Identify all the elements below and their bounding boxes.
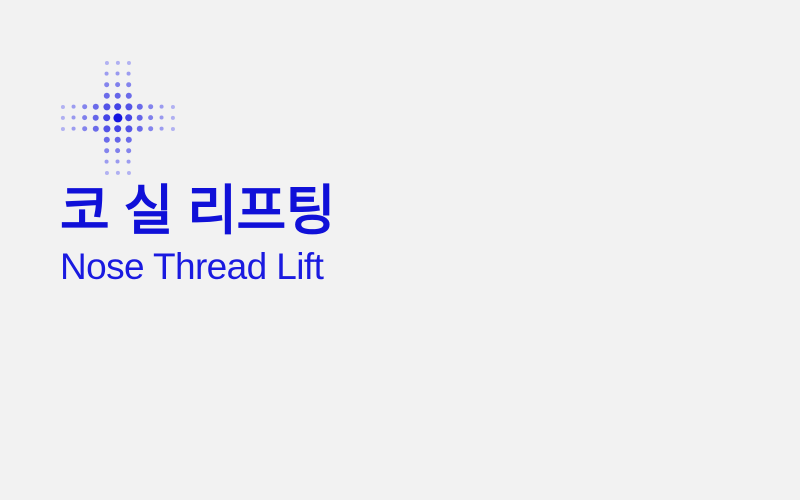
- logo-dot: [126, 148, 132, 154]
- logo-dot: [170, 104, 174, 108]
- logo-dot: [115, 170, 119, 174]
- page-title-korean: 코 실 리프팅: [60, 182, 760, 240]
- logo-dot: [136, 125, 142, 131]
- logo-dot: [60, 104, 64, 108]
- logo-dot: [115, 82, 121, 88]
- logo-dot: [92, 114, 99, 121]
- logo-dot: [114, 92, 121, 99]
- logo-dot: [103, 103, 110, 110]
- logo-dot: [148, 115, 154, 121]
- logo-dot: [82, 126, 88, 132]
- logo-dot: [103, 92, 109, 98]
- logo-dot: [125, 92, 131, 98]
- logo-dot: [170, 115, 174, 119]
- logo-dot: [115, 148, 121, 154]
- slide-canvas: 코 실 리프팅 Nose Thread Lift: [0, 0, 800, 500]
- logo-dot: [114, 125, 122, 133]
- logo-dot: [82, 115, 88, 121]
- logo-dot: [104, 159, 109, 164]
- page-subtitle-english: Nose Thread Lift: [60, 240, 760, 287]
- logo-dot: [104, 170, 108, 174]
- logo-dot: [115, 71, 120, 76]
- logo-dot: [103, 114, 111, 122]
- logo-dot: [125, 136, 131, 142]
- logo-dot: [115, 159, 120, 164]
- logo-dot: [148, 104, 154, 110]
- logo-dot: [71, 115, 76, 120]
- logo-dot: [92, 125, 98, 131]
- logo-dot: [71, 104, 76, 109]
- logo-dot: [159, 126, 164, 131]
- dotted-cross-logo: [57, 57, 167, 167]
- heading-block: 코 실 리프팅 Nose Thread Lift: [60, 182, 760, 288]
- logo-dot: [115, 60, 119, 64]
- logo-dot: [104, 82, 110, 88]
- logo-dot: [103, 125, 110, 132]
- logo-dot: [126, 170, 130, 174]
- logo-dot: [71, 126, 76, 131]
- logo-dot: [125, 125, 132, 132]
- logo-dot: [126, 71, 131, 76]
- logo-dot: [136, 103, 142, 109]
- logo-dot: [125, 114, 133, 122]
- logo-dot: [104, 148, 110, 154]
- logo-dot: [126, 159, 131, 164]
- logo-dot: [82, 104, 88, 110]
- logo-dot: [126, 60, 130, 64]
- logo-dot: [114, 136, 121, 143]
- logo-dot: [92, 103, 98, 109]
- logo-dot: [104, 60, 108, 64]
- logo-dot: [60, 115, 64, 119]
- logo-dot: [60, 126, 64, 130]
- logo-dot: [136, 114, 143, 121]
- logo-dot: [170, 126, 174, 130]
- logo-dot: [159, 115, 164, 120]
- logo-dot: [126, 82, 132, 88]
- logo-dot: [148, 126, 154, 132]
- logo-dot: [104, 71, 109, 76]
- logo-dot: [114, 103, 122, 111]
- logo-dot: [125, 103, 132, 110]
- logo-dot: [159, 104, 164, 109]
- logo-dot: [103, 136, 109, 142]
- logo-dot: [113, 113, 122, 122]
